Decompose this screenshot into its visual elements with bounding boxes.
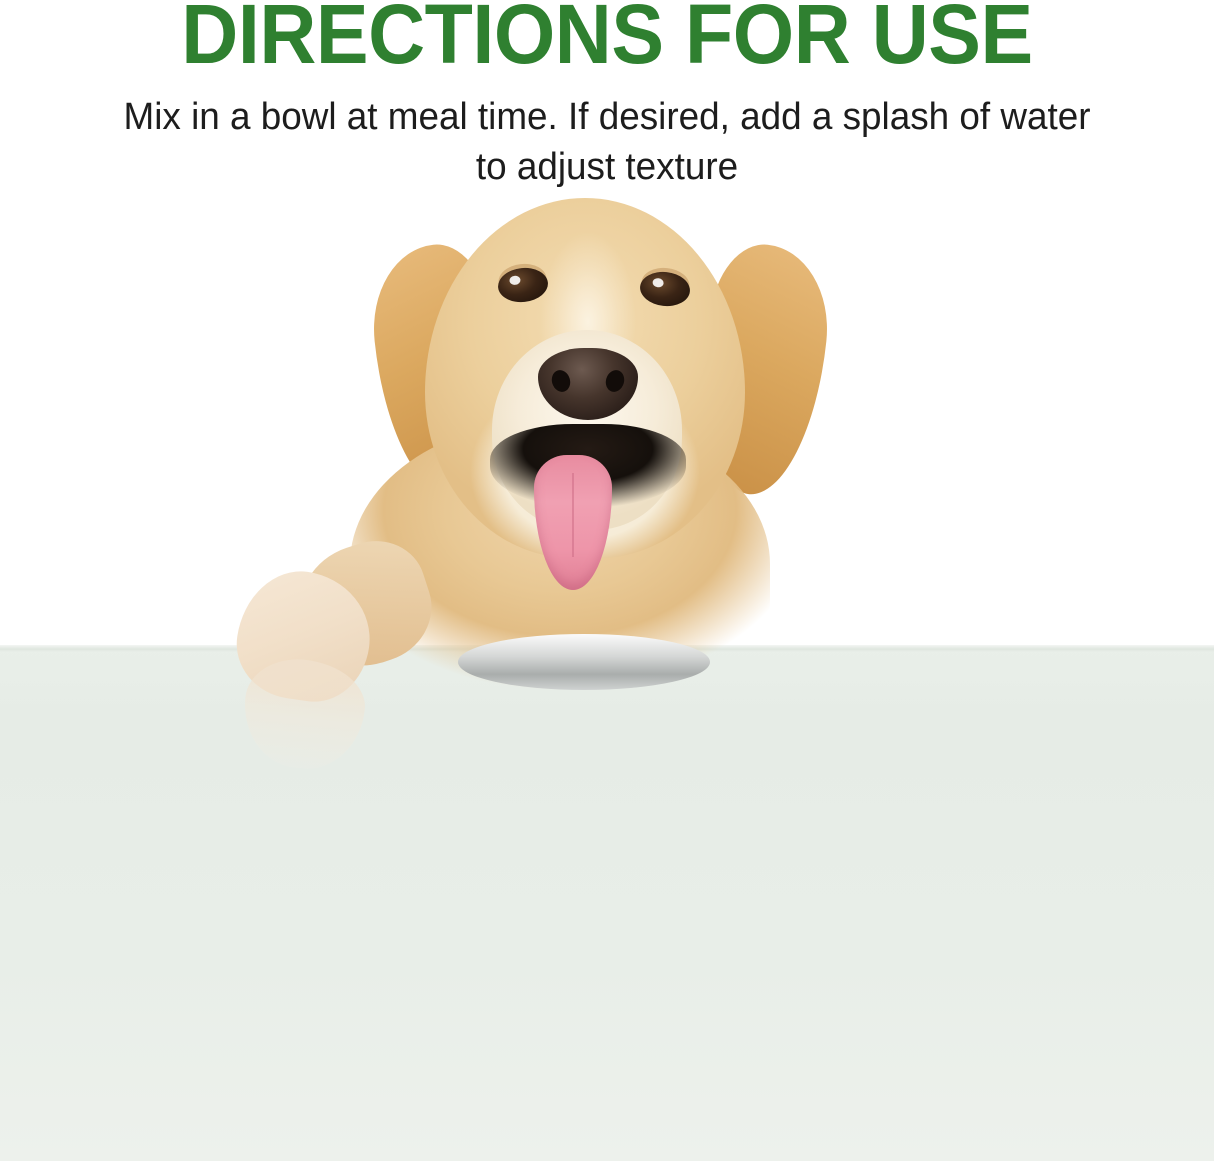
page-title: DIRECTIONS FOR USE: [36, 0, 1177, 76]
directions-for-use-infographic: DIRECTIONS FOR USE Mix in a bowl at meal…: [0, 0, 1214, 1161]
table-surface-background: [0, 645, 1214, 1161]
page-subtitle: Mix in a bowl at meal time. If desired, …: [122, 92, 1092, 192]
table-edge-line: [0, 645, 1214, 652]
